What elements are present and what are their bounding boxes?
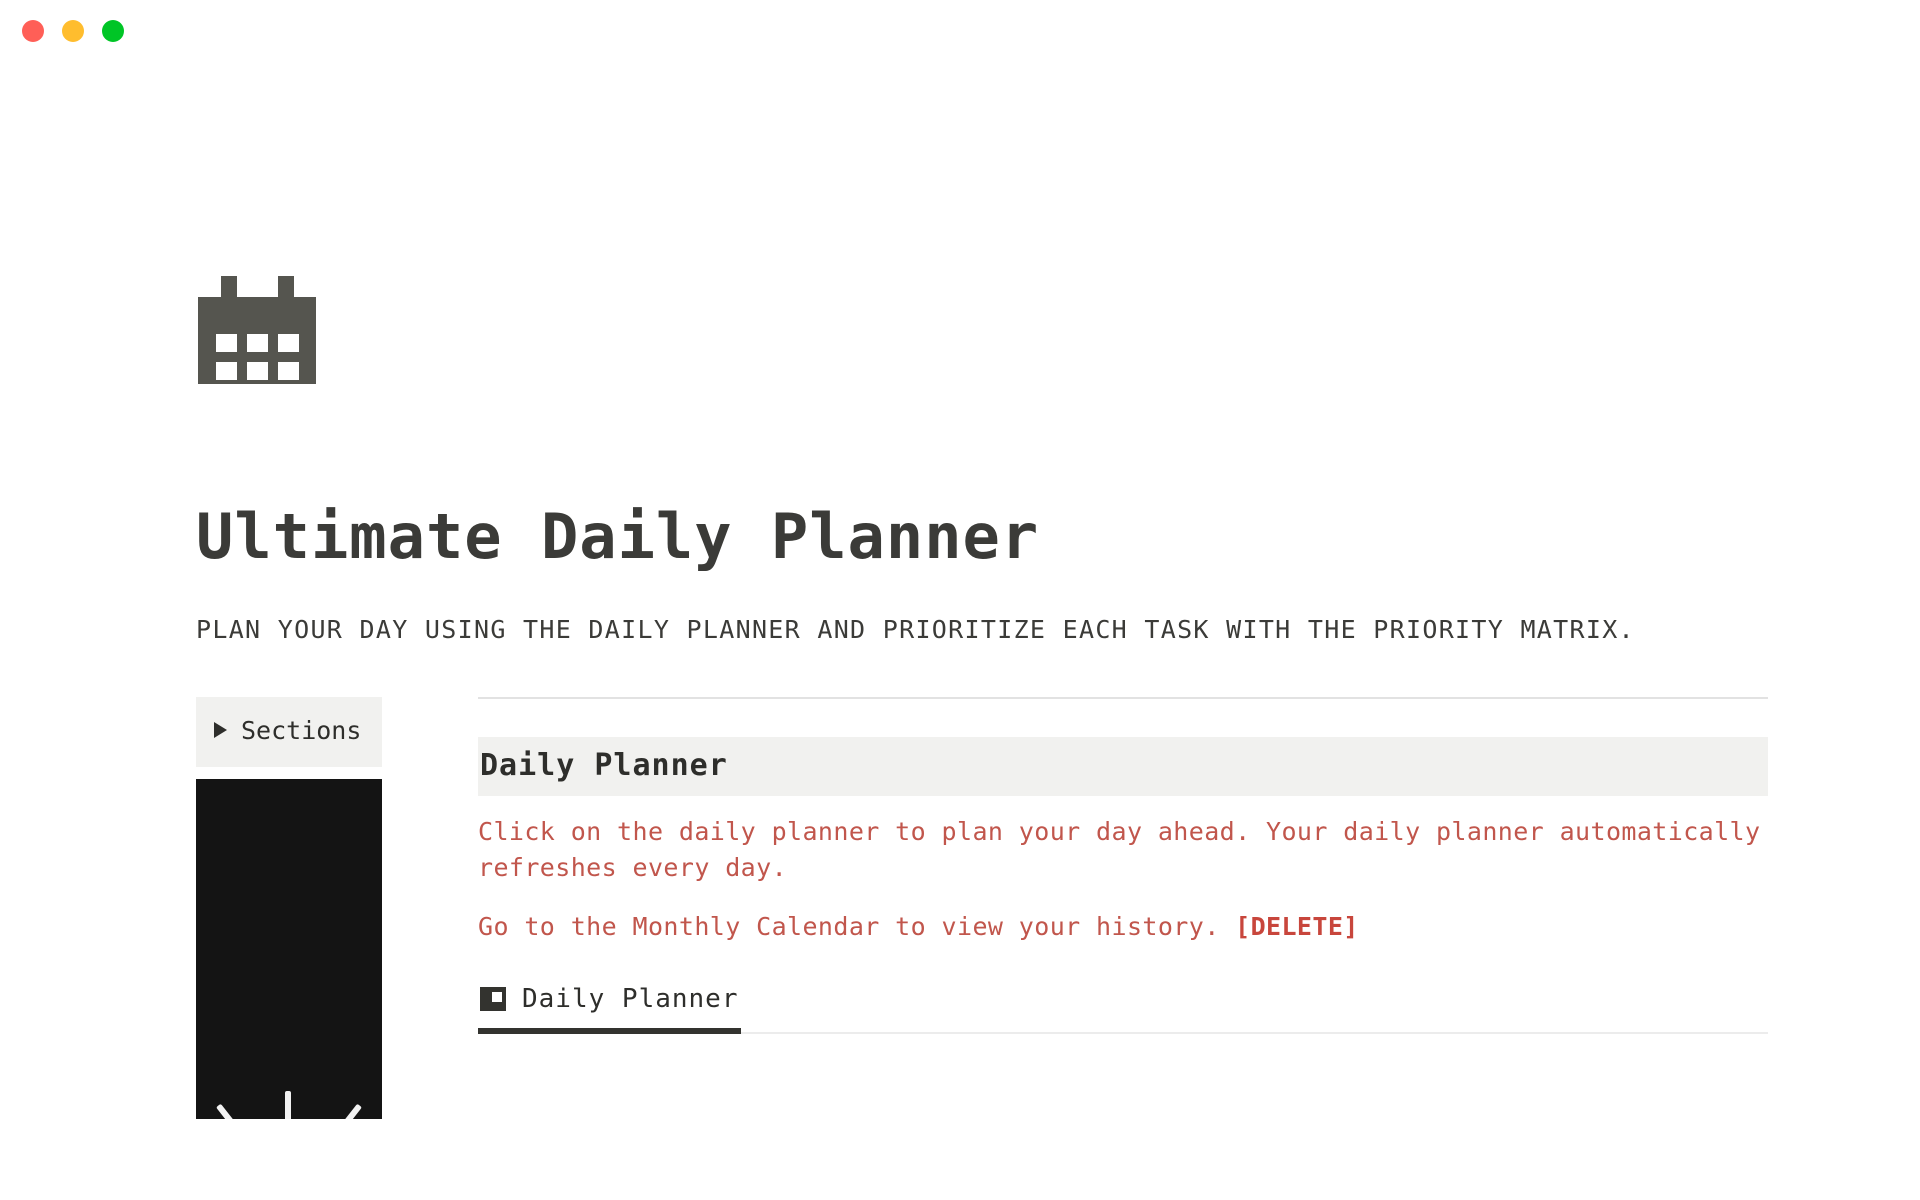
page-calendar-icon: [196, 274, 318, 386]
sidebar-preview-panel[interactable]: [196, 779, 382, 1119]
page-content: Ultimate Daily Planner PLAN YOUR DAY USI…: [0, 62, 1920, 1119]
main-content: Daily Planner Click on the daily planner…: [478, 697, 1768, 1034]
callout-history-text: Go to the Monthly Calendar to view your …: [478, 912, 1235, 941]
maximize-window-button[interactable]: [102, 20, 124, 42]
section-heading: Daily Planner: [478, 737, 1768, 796]
sections-toggle[interactable]: Sections: [196, 697, 382, 767]
tab-daily-planner[interactable]: Daily Planner: [478, 978, 741, 1034]
spark-right-mark: [333, 1103, 362, 1118]
callout-history: Go to the Monthly Calendar to view your …: [478, 909, 1768, 946]
sidebar: Sections: [196, 697, 382, 1119]
delete-tag[interactable]: [DELETE]: [1235, 912, 1359, 941]
minimize-window-button[interactable]: [62, 20, 84, 42]
tab-strip: Daily Planner: [478, 978, 1768, 1034]
window-titlebar: [0, 0, 1920, 62]
spark-left-mark: [216, 1103, 245, 1118]
tab-daily-planner-label: Daily Planner: [522, 984, 739, 1014]
close-window-button[interactable]: [22, 20, 44, 42]
sections-toggle-label: Sections: [241, 713, 361, 749]
calendar-icon: [480, 987, 506, 1011]
top-divider: [478, 697, 1768, 699]
triangle-right-icon: [214, 722, 227, 738]
content-columns: Sections Daily Planner Click on the dail…: [196, 697, 1920, 1119]
traffic-light-group: [22, 20, 124, 42]
callout-instruction: Click on the daily planner to plan your …: [478, 814, 1768, 888]
spark-center-mark: [285, 1091, 291, 1119]
page-title: Ultimate Daily Planner: [196, 504, 1920, 569]
page-subtitle: PLAN YOUR DAY USING THE DAILY PLANNER AN…: [196, 611, 1706, 649]
